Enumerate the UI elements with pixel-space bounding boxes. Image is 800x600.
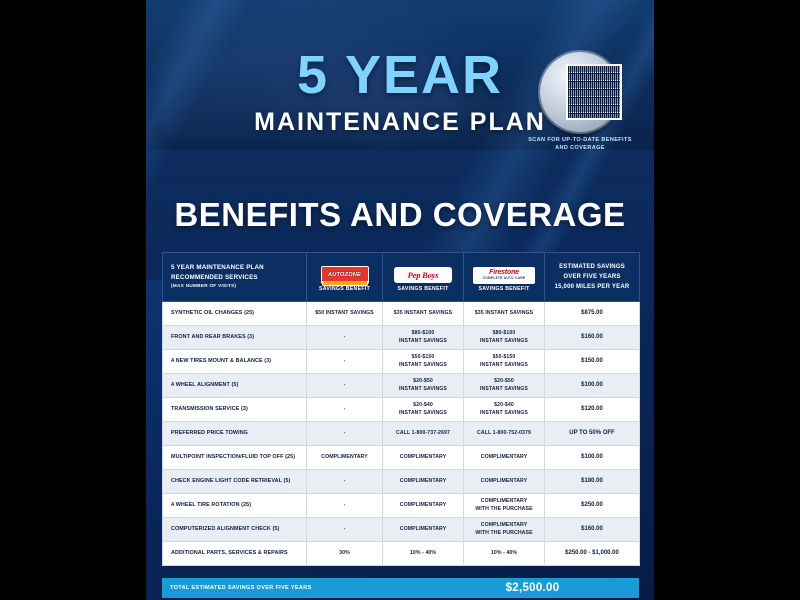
cell-estimated-savings: $160.00 (545, 518, 640, 542)
pepboys-savings-label: SAVINGS BENEFIT (383, 286, 463, 292)
cell-pepboys: COMPLIMENTARY (383, 518, 464, 542)
pepboys-logo-icon: Pep Boys (383, 267, 463, 284)
cell-estimated-savings: $120.00 (545, 398, 640, 422)
header-title-line1: 5 YEAR MAINTENANCE PLAN (171, 263, 306, 273)
cell-autozone: COMPLIMENTARY (307, 446, 383, 470)
cell-pepboys: COMPLIMENTARY (383, 494, 464, 518)
cell-estimated-savings: $875.00 (545, 302, 640, 326)
cell-autozone: - (307, 494, 383, 518)
cell-estimated-savings: $160.00 (545, 326, 640, 350)
autozone-logo-icon: AUTOZONE (307, 267, 382, 284)
cell-autozone: - (307, 470, 383, 494)
cell-estimated-savings: $250.00 - $1,000.00 (545, 542, 640, 566)
cell-pepboys: COMPLIMENTARY (383, 470, 464, 494)
cell-service: SYNTHETIC OIL CHANGES (25) (163, 302, 307, 326)
cell-autozone: - (307, 350, 383, 374)
autozone-savings-label: SAVINGS BENEFIT (307, 286, 382, 292)
cell-autozone: 30% (307, 542, 383, 566)
cell-service: COMPUTERIZED ALIGNMENT CHECK (5) (163, 518, 307, 542)
cell-service: 4 WHEEL ALIGNMENT (5) (163, 374, 307, 398)
table-row: FRONT AND REAR BRAKES (3)-$80-$100INSTAN… (163, 326, 640, 350)
cell-pepboys: $80-$100INSTANT SAVINGS (383, 326, 464, 350)
cell-autozone: - (307, 518, 383, 542)
estimated-head-line1: ESTIMATED SAVINGS (545, 262, 639, 272)
header-column-autozone: AUTOZONE SAVINGS BENEFIT (307, 253, 383, 302)
cell-estimated-savings: $100.00 (545, 374, 640, 398)
table-row: 4 WHEEL ALIGNMENT (5)-$20-$50INSTANT SAV… (163, 374, 640, 398)
benefits-table: 5 YEAR MAINTENANCE PLAN RECOMMENDED SERV… (162, 252, 640, 566)
table-row: SYNTHETIC OIL CHANGES (25)$50 INSTANT SA… (163, 302, 640, 326)
estimated-head-line2: OVER FIVE YEARS (545, 272, 639, 282)
firestone-logo-text: Firestone (489, 269, 519, 276)
header-title-line2: RECOMMENDED SERVICES (171, 273, 306, 283)
cell-firestone: CALL 1-800-752-0379 (464, 422, 545, 446)
cell-firestone: 10% - 40% (464, 542, 545, 566)
qr-badge[interactable]: SCAN FOR UP-TO-DATE BENEFITS AND COVERAG… (526, 52, 634, 170)
table-row: 4 NEW TIRES MOUNT & BALANCE (3)-$50-$150… (163, 350, 640, 374)
cell-autozone: - (307, 422, 383, 446)
cell-firestone: COMPLIMENTARY (464, 470, 545, 494)
table-row: PREFERRED PRICE TOWING-CALL 1-800-737-26… (163, 422, 640, 446)
cell-pepboys: $35 INSTANT SAVINGS (383, 302, 464, 326)
cell-pepboys: $50-$150INSTANT SAVINGS (383, 350, 464, 374)
firestone-logo-subtext: COMPLETE AUTO CARE (483, 277, 526, 280)
table-header-row: 5 YEAR MAINTENANCE PLAN RECOMMENDED SERV… (163, 253, 640, 302)
cell-estimated-savings: $250.00 (545, 494, 640, 518)
header-services-title: 5 YEAR MAINTENANCE PLAN RECOMMENDED SERV… (163, 253, 307, 302)
table-row: CHECK ENGINE LIGHT CODE RETRIEVAL (5)-CO… (163, 470, 640, 494)
cell-estimated-savings: $100.00 (545, 446, 640, 470)
qr-badge-ring (540, 52, 620, 132)
total-savings-value: $2,500.00 (466, 582, 639, 594)
cell-autozone: - (307, 374, 383, 398)
benefits-table-body: SYNTHETIC OIL CHANGES (25)$50 INSTANT SA… (163, 302, 640, 566)
cell-service: 4 WHEEL TIRE ROTATION (25) (163, 494, 307, 518)
cell-pepboys: $20-$40INSTANT SAVINGS (383, 398, 464, 422)
cell-pepboys: $20-$50INSTANT SAVINGS (383, 374, 464, 398)
section-title-benefits-and-coverage: BENEFITS AND COVERAGE (146, 196, 654, 234)
qr-code-icon[interactable] (566, 64, 622, 120)
firestone-logo-icon: Firestone COMPLETE AUTO CARE (464, 267, 544, 284)
total-savings-label: TOTAL ESTIMATED SAVINGS OVER FIVE YEARS (162, 585, 466, 591)
qr-caption: SCAN FOR UP-TO-DATE BENEFITS AND COVERAG… (526, 136, 634, 153)
table-row: 4 WHEEL TIRE ROTATION (25)-COMPLIMENTARY… (163, 494, 640, 518)
cell-estimated-savings: $180.00 (545, 470, 640, 494)
pepboys-logo-text: Pep Boys (408, 270, 439, 280)
cell-pepboys: CALL 1-800-737-2697 (383, 422, 464, 446)
cell-service: 4 NEW TIRES MOUNT & BALANCE (3) (163, 350, 307, 374)
firestone-savings-label: SAVINGS BENEFIT (464, 286, 544, 292)
cell-firestone: COMPLIMENTARYWITH THE PURCHASE (464, 518, 545, 542)
table-row: MULTIPOINT INSPECTION/FLUID TOP OFF (25)… (163, 446, 640, 470)
benefits-table-wrapper: 5 YEAR MAINTENANCE PLAN RECOMMENDED SERV… (162, 252, 639, 566)
header-title-line3: (MAX NUMBER OF VISITS) (171, 283, 306, 291)
cell-firestone: COMPLIMENTARY (464, 446, 545, 470)
cell-service: PREFERRED PRICE TOWING (163, 422, 307, 446)
cell-estimated-savings: UP TO 50% OFF (545, 422, 640, 446)
cell-service: MULTIPOINT INSPECTION/FLUID TOP OFF (25) (163, 446, 307, 470)
header-column-firestone: Firestone COMPLETE AUTO CARE SAVINGS BEN… (464, 253, 545, 302)
poster-canvas: 5 YEAR MAINTENANCE PLAN BENEFITS AND COV… (0, 0, 800, 600)
table-row: TRANSMISSION SERVICE (3)-$20-$40INSTANT … (163, 398, 640, 422)
cell-autozone: - (307, 398, 383, 422)
estimated-head-line3: 15,000 MILES PER YEAR (545, 282, 639, 292)
cell-pepboys: COMPLIMENTARY (383, 446, 464, 470)
cell-service: CHECK ENGINE LIGHT CODE RETRIEVAL (5) (163, 470, 307, 494)
cell-firestone: $35 INSTANT SAVINGS (464, 302, 545, 326)
cell-firestone: $20-$40INSTANT SAVINGS (464, 398, 545, 422)
cell-pepboys: 10% - 40% (383, 542, 464, 566)
cell-firestone: $20-$50INSTANT SAVINGS (464, 374, 545, 398)
cell-service: FRONT AND REAR BRAKES (3) (163, 326, 307, 350)
cell-firestone: $80-$100INSTANT SAVINGS (464, 326, 545, 350)
autozone-logo-text: AUTOZONE (328, 272, 361, 278)
table-row: COMPUTERIZED ALIGNMENT CHECK (5)-COMPLIM… (163, 518, 640, 542)
cell-service: ADDITIONAL PARTS, SERVICES & REPAIRS (163, 542, 307, 566)
cell-estimated-savings: $150.00 (545, 350, 640, 374)
total-savings-bar: TOTAL ESTIMATED SAVINGS OVER FIVE YEARS … (162, 578, 639, 598)
table-row: ADDITIONAL PARTS, SERVICES & REPAIRS30%1… (163, 542, 640, 566)
cell-firestone: COMPLIMENTARYWITH THE PURCHASE (464, 494, 545, 518)
header-column-estimated-savings: ESTIMATED SAVINGS OVER FIVE YEARS 15,000… (545, 253, 640, 302)
cell-autozone: $50 INSTANT SAVINGS (307, 302, 383, 326)
header-column-pepboys: Pep Boys SAVINGS BENEFIT (383, 253, 464, 302)
cell-autozone: - (307, 326, 383, 350)
cell-firestone: $50-$150INSTANT SAVINGS (464, 350, 545, 374)
cell-service: TRANSMISSION SERVICE (3) (163, 398, 307, 422)
